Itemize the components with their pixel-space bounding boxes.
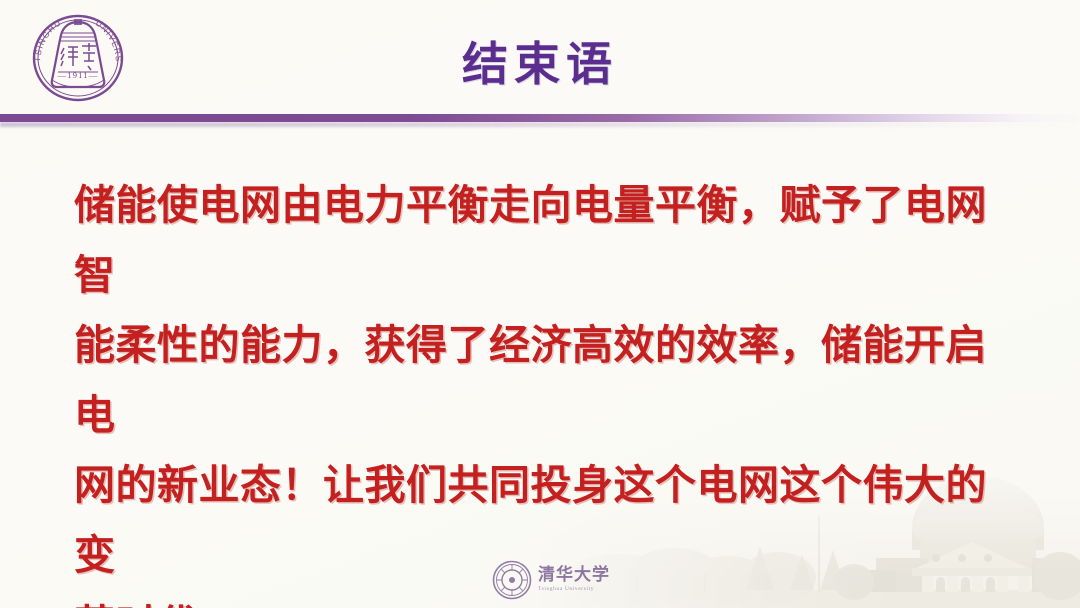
tsinghua-watermark: 清华大学 Tsinghua University [492, 556, 632, 604]
page-title: 结束语 [0, 28, 1080, 94]
slide-body-text: 储能使电网由电力平衡走向电量平衡，赋予了电网智 能柔性的能力，获得了经济高效的效… [74, 170, 1014, 608]
divider-bar [0, 114, 1080, 122]
slide-canvas: —1911— TSINGHUA UNIVERSITY 结束语 储能使电网由电力平… [0, 0, 1080, 608]
watermark-seal-icon [492, 560, 532, 600]
divider-shadow [0, 122, 1080, 127]
slide-header: —1911— TSINGHUA UNIVERSITY 结束语 [0, 0, 1080, 118]
watermark-en-label: Tsinghua University [538, 587, 610, 593]
header-divider [0, 114, 1080, 130]
watermark-text: 清华大学 Tsinghua University [538, 567, 610, 593]
watermark-cn-label: 清华大学 [538, 567, 610, 584]
